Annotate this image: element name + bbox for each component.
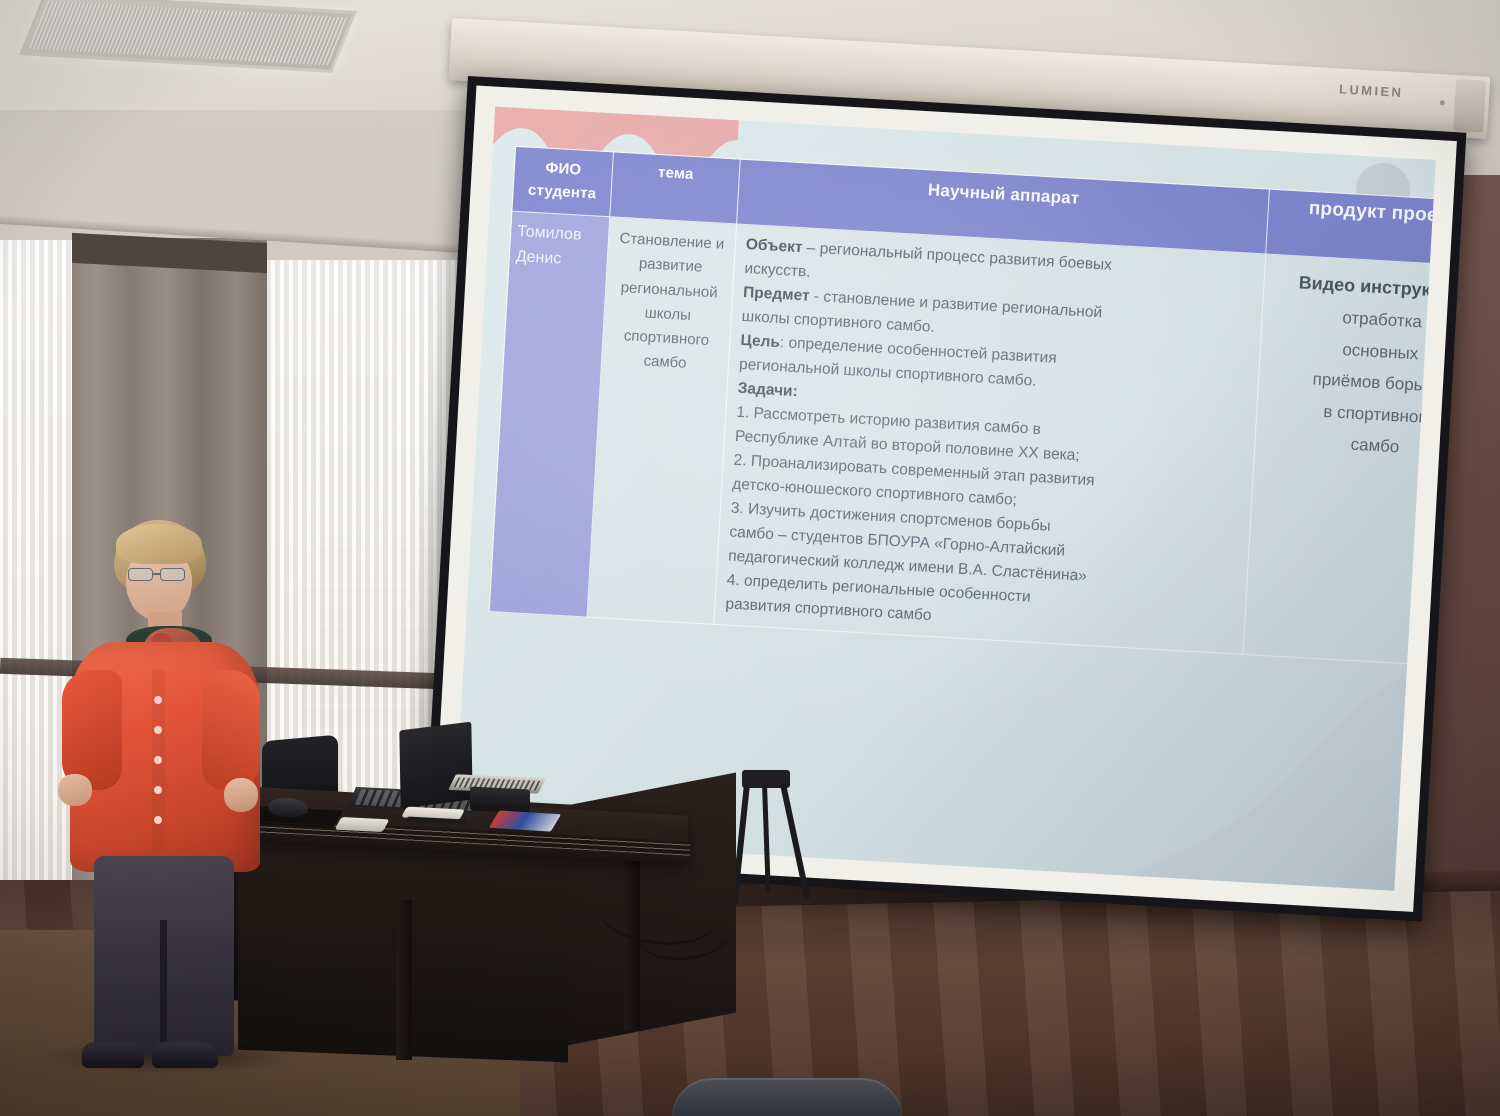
cardigan-button <box>154 726 162 734</box>
cardigan-button <box>154 696 162 704</box>
booklet[interactable] <box>489 810 561 831</box>
slide-content: ФИО студента тема Научный аппарат продук… <box>454 107 1436 891</box>
header-tema: тема <box>610 152 740 224</box>
apparatus-label: Объект <box>745 236 803 256</box>
cell-project-product: Видео инструкция: отработкаосновныхприём… <box>1243 254 1436 668</box>
table-row: Томилов Денис Становление иразвитиерегио… <box>489 211 1436 668</box>
remote-control[interactable] <box>335 817 390 832</box>
presenter-fringe <box>116 524 202 564</box>
roller-end-cap <box>1453 79 1486 133</box>
ceiling-light-panel <box>19 0 357 73</box>
cell-scientific-apparatus: Объект – региональный процесс развития б… <box>714 224 1266 655</box>
screen-border-mat: ФИО студента тема Научный аппарат продук… <box>433 85 1457 911</box>
foreground-chair[interactable] <box>672 1078 902 1116</box>
cardigan-button <box>154 756 162 764</box>
apparatus-label: Задачи: <box>737 380 798 400</box>
apparatus-label: Цель <box>740 332 780 351</box>
presenter-right-hand <box>224 778 258 812</box>
classroom-scene: LUMIEN <box>0 0 1500 1116</box>
presenter-left-arm <box>62 670 122 790</box>
header-fio: ФИО студента <box>512 146 614 216</box>
cell-theme: Становление иразвитиерегиональнойшколысп… <box>587 217 737 625</box>
project-table: ФИО студента тема Научный аппарат продук… <box>489 146 1436 669</box>
glasses-icon <box>128 568 190 581</box>
roller-screw <box>1440 100 1445 105</box>
laptop-screen-lid[interactable] <box>399 722 472 809</box>
presenter <box>56 520 316 1080</box>
cardigan-button <box>154 816 162 824</box>
product-body-lines: отработкаосновныхприёмов борьбыв спортив… <box>1261 298 1436 468</box>
theme-lines: Становление иразвитиерегиональнойшколысп… <box>606 227 730 379</box>
apparatus-lines: Объект – региональный процесс развития б… <box>725 233 1255 645</box>
projection-screen: ФИО студента тема Научный аппарат продук… <box>423 76 1466 921</box>
presenter-left-hand <box>58 774 92 806</box>
presenter-shoe <box>82 1042 144 1068</box>
header-fio-line2: студента <box>515 178 609 206</box>
screen-surface: ФИО студента тема Научный аппарат продук… <box>454 107 1436 891</box>
trouser-seam <box>160 920 167 1060</box>
apparatus-label: Предмет <box>743 284 810 305</box>
screen-brand-label: LUMIEN <box>1339 81 1404 100</box>
desk-leg <box>396 900 412 1060</box>
presenter-right-arm <box>202 670 260 790</box>
presenter-shoe <box>152 1042 218 1068</box>
cardigan-button <box>154 786 162 794</box>
